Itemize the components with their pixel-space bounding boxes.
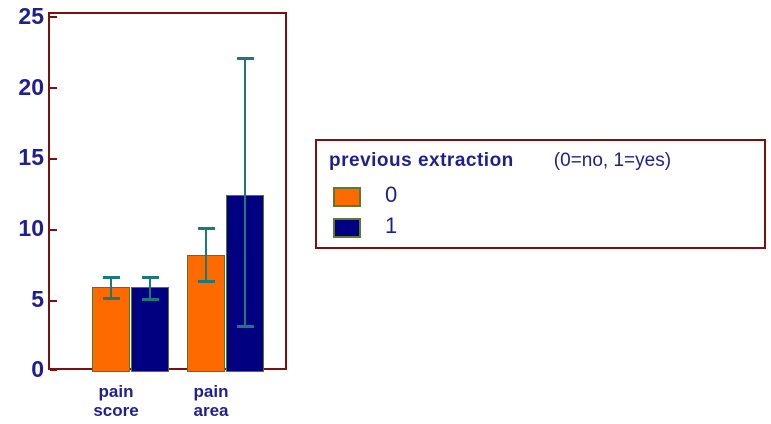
errorbar-pain-area-series-0: [187, 227, 225, 284]
legend-header: previous extraction(0=no, 1=yes): [329, 150, 759, 176]
y-tick-label-5: 5: [0, 288, 44, 311]
legend-title: previous extraction: [329, 150, 514, 171]
y-tick-label-25: 25: [0, 5, 44, 28]
y-axis-tick-15: [50, 158, 57, 160]
y-axis-tick-20: [50, 87, 57, 89]
legend: previous extraction(0=no, 1=yes) 0 1: [315, 139, 766, 249]
y-tick-label-10: 10: [0, 217, 44, 240]
y-tick-label-15: 15: [0, 146, 44, 169]
errorbar-pain-score-series-0: [92, 276, 130, 300]
y-axis-tick-10: [50, 229, 57, 231]
legend-label-series-1: 1: [385, 212, 397, 240]
y-tick-label-20: 20: [0, 76, 44, 99]
x-axis-label-pain-score: pain score: [70, 382, 162, 420]
y-tick-label-0: 0: [0, 358, 44, 381]
errorbar-cap-upper: [237, 57, 254, 60]
legend-swatch-icon-series-0: [333, 187, 361, 207]
errorbar-pain-score-series-1: [131, 276, 169, 301]
errorbar-cap-lower: [103, 297, 120, 300]
legend-note: (0=no, 1=yes): [554, 150, 671, 171]
legend-swatch-icon-series-1: [333, 218, 361, 238]
chart-root: 25 20 15 10 5 0: [0, 0, 771, 424]
errorbar-cap-lower: [198, 280, 215, 283]
legend-label-series-0: 0: [385, 181, 397, 209]
y-axis-tick-5: [50, 300, 57, 302]
y-axis-tick-0: [50, 369, 57, 371]
errorbar-pain-area-series-1: [226, 57, 264, 329]
y-axis-tick-25: [50, 16, 57, 18]
plot-area: [48, 12, 287, 370]
x-axis-label-pain-area: pain area: [165, 382, 257, 420]
errorbar-cap-upper: [142, 276, 159, 279]
plot-inner: [50, 14, 285, 368]
errorbar-cap-lower: [237, 325, 254, 328]
errorbar-cap-upper: [103, 276, 120, 279]
errorbar-cap-upper: [198, 227, 215, 230]
errorbar-cap-lower: [142, 298, 159, 301]
